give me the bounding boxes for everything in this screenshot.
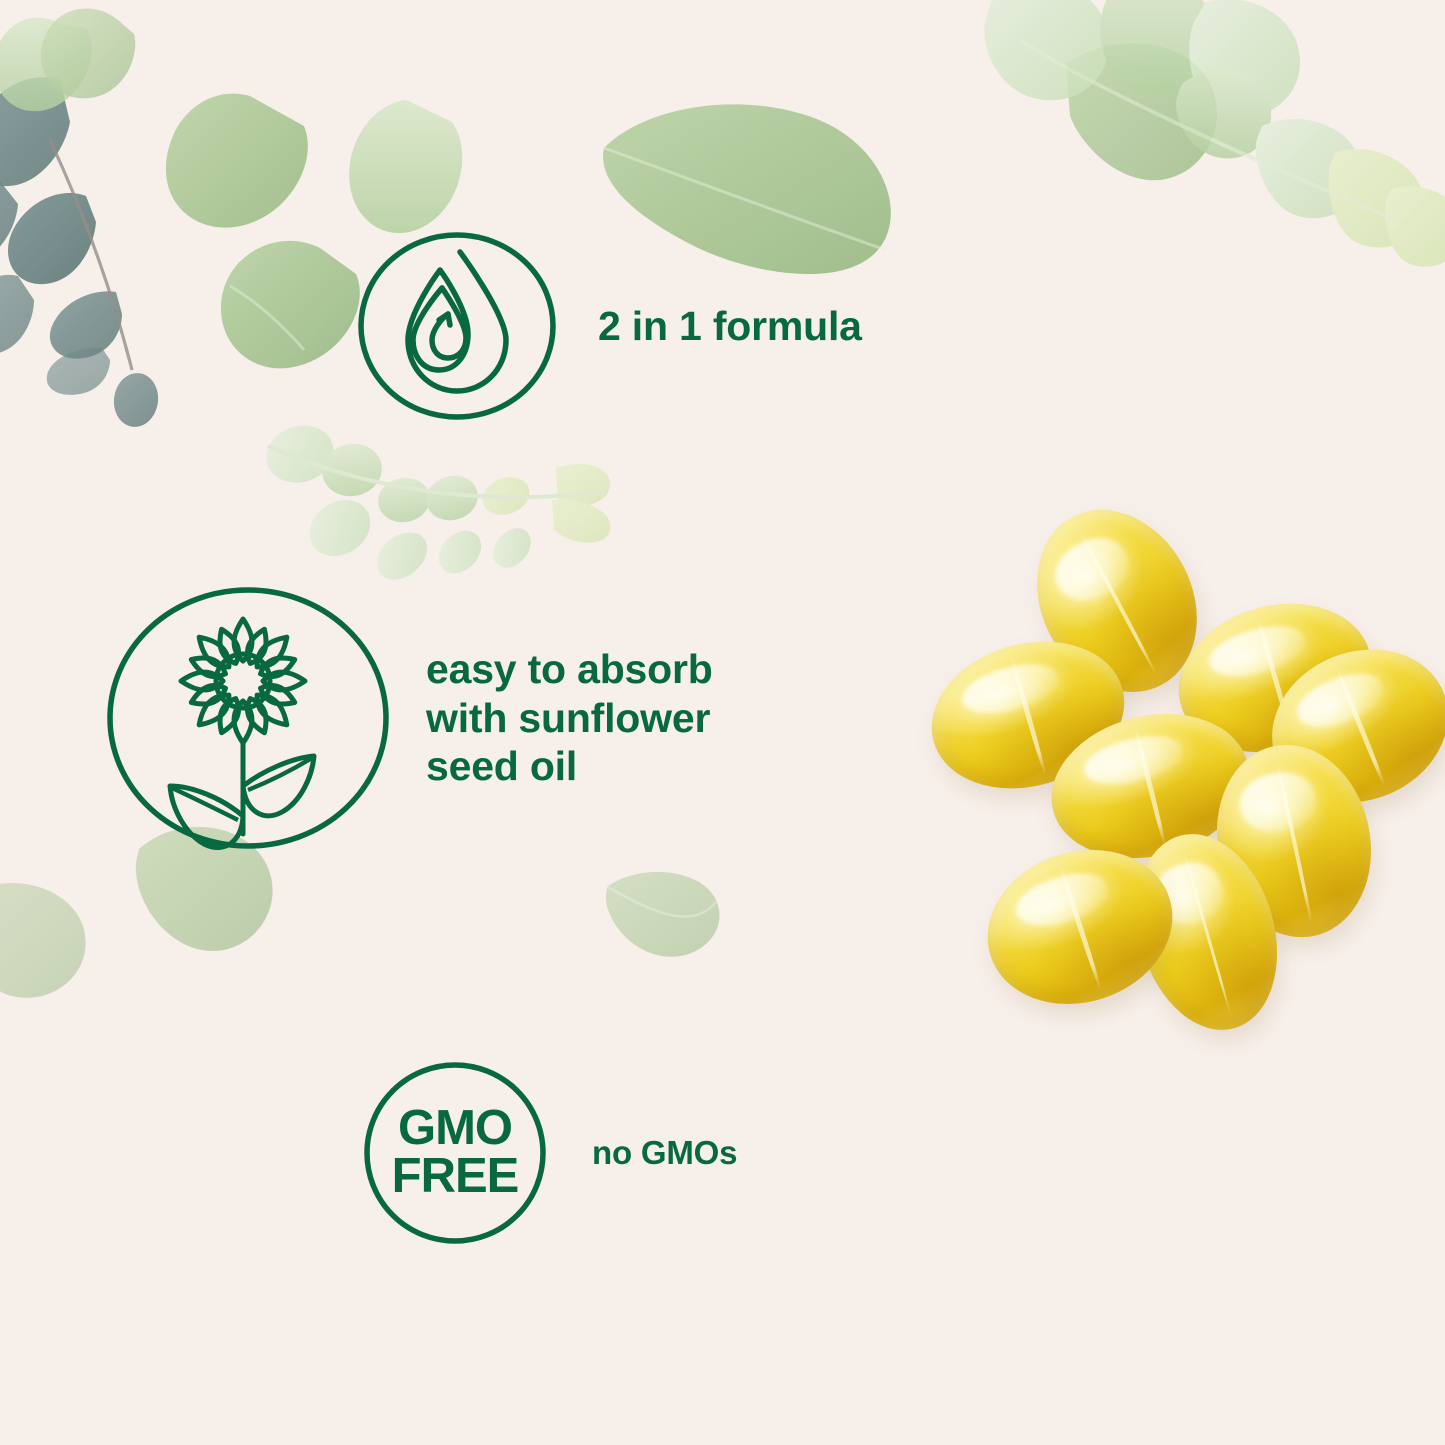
feature-label-no-gmos: no GMOs [592, 1134, 737, 1173]
feature-two-in-one: 2 in 1 formula [356, 230, 862, 422]
gmo-badge-line-1: GMO [398, 1105, 512, 1153]
feature-no-gmos: GMO FREE no GMOs [362, 1060, 737, 1246]
gmo-free-badge-text: GMO FREE [362, 1060, 548, 1246]
feature-label-two-in-one: 2 in 1 formula [598, 302, 862, 350]
softgel-capsules [930, 480, 1400, 970]
gmo-badge-line-2: FREE [392, 1153, 519, 1201]
oil-droplet-spiral-icon [356, 230, 558, 422]
sunflower-icon [106, 586, 390, 850]
feature-label-easy-absorb: easy to absorb with sunflower seed oil [426, 645, 713, 790]
feature-easy-absorb: easy to absorb with sunflower seed oil [106, 586, 713, 850]
gmo-free-badge-icon: GMO FREE [362, 1060, 548, 1246]
product-infographic: 2 in 1 formula [0, 0, 1445, 1445]
